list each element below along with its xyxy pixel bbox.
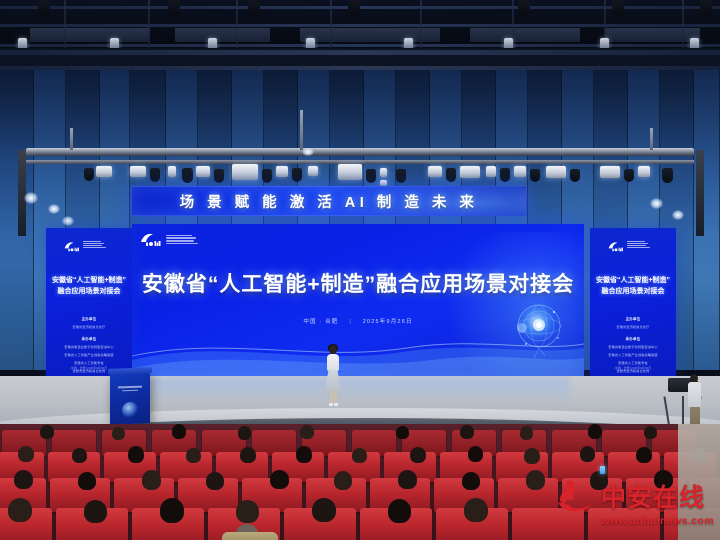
stage-top-banner: 场 景 赋 能 激 活 AI 制 造 未 来 [131, 186, 527, 216]
event-date: 2025年9月26日 [363, 319, 413, 325]
subtitle-separator: | [349, 319, 352, 325]
anhui-logo-icon [140, 232, 162, 247]
banner-organizer-line: 安徽省人工智能产业创新战略联盟 [64, 352, 113, 357]
screen-wave-graphic [132, 326, 584, 382]
anhui-logo-icon [608, 239, 624, 250]
podium [110, 371, 150, 424]
logo-subtext [166, 235, 198, 245]
podium-orb-graphic [122, 402, 138, 419]
banner-host-header: 主办单位 [626, 316, 641, 321]
banner-organizer-header: 承办单位 [626, 336, 641, 341]
banner-organizer-line: 安徽省制造业数字化转型促进中心 [64, 344, 113, 349]
lighting-truss [26, 148, 694, 156]
banner-host-line: 安徽省经济和信息化厅 [617, 324, 650, 329]
banner-host-header: 主办单位 [82, 316, 97, 321]
top-banner-text: 场 景 赋 能 激 活 AI 制 造 未 来 [180, 191, 479, 212]
banner-logo-right [608, 239, 650, 250]
banner-host-line: 安徽省经济和信息化厅 [73, 324, 106, 329]
roll-up-banner-left: 安徽省“人工智能+制造” 融合应用场景对接会 主办单位 安徽省经济和信息化厅 承… [46, 228, 132, 376]
main-led-screen: 安徽省“人工智能+制造”融合应用场景对接会 中国 · 合肥 | 2025年9月2… [132, 224, 584, 382]
event-title: 安徽省“人工智能+制造”融合应用场景对接会 [132, 268, 584, 298]
attendee-phone [600, 466, 605, 474]
roll-up-banner-right: 安徽省“人工智能+制造” 融合应用场景对接会 主办单位 安徽省经济和信息化厅 承… [590, 228, 676, 376]
floor-reflection [150, 378, 570, 404]
event-location: 中国 · 合肥 [303, 319, 338, 325]
banner-title-right: 安徽省“人工智能+制造” 融合应用场景对接会 [594, 276, 672, 298]
banner-organizer-line: 安徽省人工智能学会 [74, 360, 104, 365]
banner-title-left: 安徽省“人工智能+制造” 融合应用场景对接会 [50, 276, 128, 298]
podium-text [115, 385, 145, 391]
aisle-wall [678, 424, 720, 540]
banner-organizer-header: 承办单位 [82, 336, 97, 341]
conference-hall-photo: 场 景 赋 能 激 活 AI 制 造 未 来 安徽省“人工智能+制造”融合应用场… [0, 0, 720, 540]
banner-footer-right: 中国 · 合肥 2025年9月26日 [590, 366, 676, 370]
banner-organizer-line: 安徽省人工智能产业创新战略联盟 [608, 352, 657, 357]
light-tower-right [696, 150, 704, 236]
banner-organizers-left: 主办单位 安徽省经济和信息化厅 承办单位 安徽省制造业数字化转型促进中心 安徽省… [58, 316, 120, 373]
host-presenter [322, 345, 344, 407]
audience-seating [0, 424, 720, 540]
banner-organizer-line: 安徽省制造业数字化转型促进中心 [608, 344, 657, 349]
banner-organizers-right: 主办单位 安徽省经济和信息化厅 承办单位 安徽省制造业数字化转型促进中心 安徽省… [602, 316, 664, 373]
banner-organizer-line: 安徽省人工智能学会 [618, 360, 648, 365]
event-logo [140, 232, 198, 247]
banner-logo-left [64, 239, 106, 250]
anhui-logo-icon [64, 239, 80, 250]
